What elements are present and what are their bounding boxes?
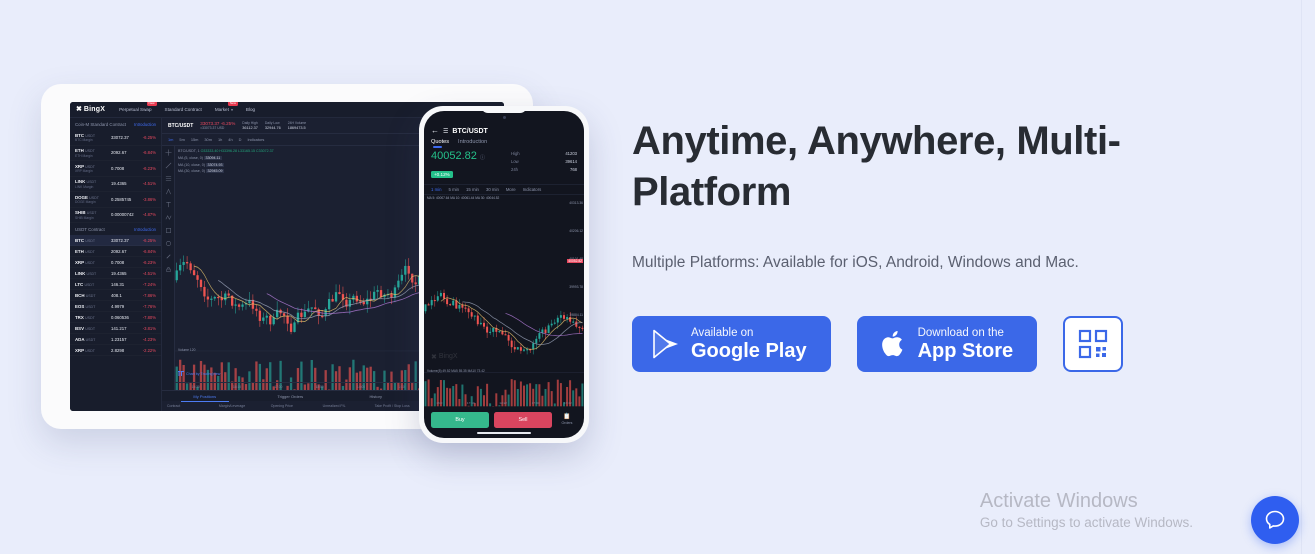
coin-row[interactable]: ETH USDT2092.67-6.84% (70, 246, 161, 257)
phone-stats: High41203Low3961424h768 (511, 150, 577, 181)
google-play-top-label: Available on (691, 326, 807, 340)
sell-button[interactable]: Sell (494, 412, 552, 428)
tab-my-positions[interactable]: My Positions (162, 394, 248, 399)
phone-stat-24h: 24h768 (511, 166, 577, 174)
coin-pair: USDT (85, 165, 95, 169)
ticker-price: 33073.37 -6.25% ≈33073.37 USD (200, 121, 235, 130)
coin-change: -6.84% (136, 249, 156, 254)
page-right-divider (1301, 0, 1302, 554)
magnet-icon[interactable] (165, 227, 172, 234)
coin-section-title: Coin-M Standard Contract (75, 122, 126, 127)
coin-row[interactable]: LTC USDT146.31-7.24% (70, 279, 161, 290)
coin-change: -3.81% (136, 326, 156, 331)
coin-price: 19.4365 (106, 271, 136, 276)
coin-row[interactable]: ETH USDTETH Margin2092.67-6.84% (70, 146, 161, 162)
qr-code-button[interactable] (1063, 316, 1123, 372)
coin-row[interactable]: BSV USDT141.217-3.81% (70, 323, 161, 334)
phone-time-tick: 17:10 (467, 401, 475, 405)
qr-code-icon (1078, 329, 1108, 359)
stat-label: Low (511, 158, 519, 166)
activate-windows-title: Activate Windows (980, 488, 1193, 515)
coin-section-header-2: USDT Contract Introduction (70, 223, 161, 235)
page-subtitle: Multiple Platforms: Available for iOS, A… (632, 254, 1192, 272)
phone-timeframe-1-min[interactable]: 1 min (431, 187, 442, 192)
google-play-icon (652, 329, 680, 359)
coin-price: 408.1 (106, 293, 136, 298)
phone-candle-series (424, 195, 584, 406)
tablet-nav-items: Perpetual Swap New Standard Contract Mar… (119, 107, 255, 112)
coin-price: 0.7008 (106, 260, 136, 265)
coin-change: -3.86% (136, 197, 156, 202)
coin-row[interactable]: ADA USDT1.23157-4.23% (70, 334, 161, 345)
tradingview-credit[interactable]: Chart by TradingView (178, 371, 220, 376)
ohlc-low: 33165.15 (240, 149, 255, 153)
coin-pair: USDT (85, 134, 95, 138)
phone-action-bar: Buy Sell 📋 Orders (424, 407, 584, 432)
nav-item-market[interactable]: Market ▾ New (215, 107, 233, 112)
coin-sub: LINK Margin (75, 185, 106, 189)
coin-change: -6.84% (136, 150, 156, 155)
timeframe-5m[interactable]: 5m (179, 137, 184, 142)
coin-price: 0.00000742 (106, 212, 136, 217)
phone-chart-area[interactable]: MA 5: 40007.64 MA 10: 40061.44 MA 30: 40… (424, 195, 584, 406)
column-header: Margin/Leverage (219, 404, 271, 408)
coin-symbol: XRP USDT (75, 348, 106, 353)
coin-name: LINK USDTLINK Margin (75, 179, 106, 189)
coin-section-header-1: Coin-M Standard Contract Introduction (70, 118, 161, 130)
coin-list-panel: Coin-M Standard Contract Introduction BT… (70, 118, 162, 411)
nav-badge-new: New (228, 102, 238, 106)
timeframe-15m[interactable]: 15m (191, 137, 199, 142)
phone-price-value: 40052.82 (431, 150, 477, 162)
coin-pair: USDT (85, 327, 95, 331)
hero-content: Anytime, Anywhere, Multi-Platform Multip… (632, 0, 1192, 372)
buy-button[interactable]: Buy (431, 412, 489, 428)
coin-name: ETH USDT (75, 249, 106, 254)
volume-indicator-label: Volume 120 (178, 348, 195, 352)
coin-symbol: EOS USDT (75, 304, 106, 309)
phone-quote-block: 40052.82 ⓘ +0.12% High41203Low3961424h76… (424, 148, 584, 184)
coin-pair: USDT (85, 250, 95, 254)
phone-watermark: ✖ BingX (431, 353, 458, 361)
stat-value: 36112.37 (242, 126, 258, 130)
ma-label: MA (10, close, 0) (178, 163, 205, 167)
coin-rows-section-2: BTC USDT33072.37-6.25%ETH USDT2092.67-6.… (70, 235, 161, 356)
coin-change: -7.76% (136, 304, 156, 309)
phone-home-indicator (477, 432, 531, 435)
app-store-top-label: Download on the (918, 326, 1014, 340)
timeframe-30m[interactable]: 30m (204, 137, 212, 142)
phone-camera-dot (503, 116, 506, 119)
coin-change: -2.22% (136, 348, 156, 353)
coin-name: DOGE USDTDOGE Margin (75, 195, 106, 205)
tab-trigger-orders[interactable]: Trigger Orders (248, 394, 334, 399)
phone-header: ← ☰ BTC/USDT (424, 123, 584, 137)
phone-stat-low: Low39614 (511, 158, 577, 166)
phone-tab-introduction[interactable]: Introduction (458, 139, 487, 148)
coin-price: 1.23157 (106, 337, 136, 342)
coin-row[interactable]: XRP USDT2.8298-2.22% (70, 345, 161, 356)
coin-sub: SHIB Margin (75, 216, 106, 220)
coin-row[interactable]: BTC USDTBTC Margin33072.37-6.25% (70, 130, 161, 146)
pattern-icon[interactable] (165, 214, 172, 221)
ma-value: 32945.09 (206, 169, 224, 173)
app-store-bottom-label: App Store (918, 340, 1014, 363)
coin-symbol: TRX USDT (75, 315, 106, 320)
orders-label: Orders (557, 421, 577, 425)
coin-name: SHIB USDTSHIB Margin (75, 210, 106, 220)
google-play-button[interactable]: Available on Google Play (632, 316, 831, 372)
column-header: Contract (167, 404, 219, 408)
coin-price: 19.4365 (106, 181, 136, 186)
stat-label: Daily Low (265, 121, 280, 125)
ohlc-open: 33333.40 (203, 149, 218, 153)
time-tick: 16:10 (233, 385, 241, 389)
coin-pair: USDT (86, 272, 96, 276)
phone-stat-high: High41203 (511, 150, 577, 158)
coin-symbol: LINK USDT (75, 271, 106, 276)
bingx-logo-text: BingX (84, 106, 105, 113)
ohlc-title: BTC/USDT, 1 (178, 149, 200, 153)
coin-price: 2092.67 (106, 150, 136, 155)
time-tick: 1:10 (398, 385, 404, 389)
coin-row[interactable]: LINK USDT19.4365-4.51% (70, 268, 161, 279)
coin-change: -4.23% (136, 337, 156, 342)
coin-symbol: BTC USDT (75, 133, 106, 138)
phone-timeframe-30-min[interactable]: 30 min (486, 187, 499, 192)
orders-icon: 📋 (557, 414, 577, 420)
nav-item-perpetual-swap[interactable]: Perpetual Swap New (119, 107, 151, 112)
coin-pair: USDT (85, 149, 95, 153)
coin-change: -6.25% (136, 135, 156, 140)
coin-name: EOS USDT (75, 304, 106, 309)
coin-row[interactable]: EOS USDT4.9979-7.76% (70, 301, 161, 312)
timeframe-1m[interactable]: 1m (168, 137, 173, 142)
phone-timeframe-bar: 1 min5 min15 min30 minMoreIndicators (424, 184, 584, 195)
coin-change: -6.23% (136, 166, 156, 171)
ma-value: 33094.11 (204, 156, 222, 160)
phone-pair-title: BTC/USDT (452, 128, 487, 135)
bingx-logo[interactable]: ✖ BingX (76, 106, 105, 113)
coin-symbol: ADA USDT (75, 337, 106, 342)
ticker-price-usd: ≈33073.37 USD (200, 126, 235, 130)
trendline-icon[interactable] (165, 162, 172, 169)
phone-tab-quotes[interactable]: Quotes (431, 139, 449, 148)
coin-pair: USDT (87, 211, 97, 215)
coin-symbol: BTC USDT (75, 238, 106, 243)
coin-price: 0.7008 (106, 166, 136, 171)
coin-row[interactable]: XRP USDT0.7008-6.23% (70, 257, 161, 268)
coin-pair: USDT (84, 283, 94, 287)
phone-timeframe-5-min[interactable]: 5 min (449, 187, 460, 192)
coin-pair: USDT (85, 349, 95, 353)
chart-ohlc-legend: BTC/USDT, 1 O33333.40 H33396.28 L33165.1… (178, 148, 274, 175)
ticker-stat-daily-low: Daily Low 32944.76 (265, 121, 281, 130)
coin-section-introduction-link[interactable]: Introduction (134, 227, 156, 232)
phone-tabs: QuotesIntroduction (424, 137, 584, 148)
coin-sub: XRP Margin (75, 169, 106, 173)
coin-price: 0.2585745 (106, 197, 136, 202)
column-header: Opening Price (271, 404, 323, 408)
coin-row[interactable]: BTC USDT33072.37-6.25% (70, 235, 161, 246)
coin-pair: USDT (86, 305, 96, 309)
stat-label: 24h (511, 166, 518, 174)
phone-timeframe-15-min[interactable]: 15 min (466, 187, 479, 192)
list-icon[interactable]: ☰ (443, 128, 448, 135)
phone-axis-tick: 39884.11 (569, 313, 583, 317)
lock-icon[interactable] (165, 266, 172, 273)
activate-windows-subtitle: Go to Settings to activate Windows. (980, 515, 1193, 530)
nav-label: Market (215, 107, 229, 112)
phone-axis-tick: 39993.78 (569, 285, 583, 289)
phone-axis-tick: 40206.12 (569, 229, 583, 233)
nav-label: Perpetual Swap (119, 107, 151, 112)
chart-drawing-toolbar (162, 146, 175, 390)
phone-notch (481, 111, 527, 113)
ohlc-close: 33072.37 (259, 149, 274, 153)
tradingview-credit-text: Chart by TradingView (186, 372, 220, 376)
coin-symbol: BCH USDT (75, 293, 106, 298)
coin-pair: USDT (85, 261, 95, 265)
coin-pair: USDT (86, 180, 96, 184)
chat-widget-button[interactable] (1251, 496, 1299, 544)
coin-rows-section-1: BTC USDTBTC Margin33072.37-6.25%ETH USDT… (70, 130, 161, 223)
coin-name: ETH USDTETH Margin (75, 148, 106, 158)
indicators-button[interactable]: Indicators (247, 137, 264, 142)
tab-history[interactable]: History (333, 394, 419, 399)
coin-change: -4.51% (136, 181, 156, 186)
coin-name: ADA USDT (75, 337, 106, 342)
back-arrow-icon[interactable]: ← (431, 127, 439, 135)
coin-row[interactable]: BCH USDT408.1-7.86% (70, 290, 161, 301)
info-icon[interactable]: ⓘ (480, 155, 485, 161)
phone-screen: ← ☰ BTC/USDT QuotesIntroduction 40052.82… (424, 111, 584, 438)
nav-label: Standard Contract (165, 107, 202, 112)
chevron-down-icon: ▾ (231, 108, 233, 112)
coin-pair: USDT (85, 316, 95, 320)
coin-price: 2092.67 (106, 249, 136, 254)
phone-last-price: 40052.82 ⓘ (431, 150, 511, 163)
ticker-pair: BTC/USDT (168, 123, 193, 129)
stat-value: 32944.76 (265, 126, 281, 130)
coin-name: LTC USDT (75, 282, 106, 287)
nav-item-blog[interactable]: Blog (246, 107, 255, 112)
phone-timeframe-more[interactable]: More (506, 187, 516, 192)
watermark-mark: ✖ (431, 353, 437, 361)
timeframe-4h[interactable]: 4h (228, 137, 232, 142)
page-title: Anytime, Anywhere, Multi-Platform (632, 116, 1177, 218)
coin-row[interactable]: SHIB USDTSHIB Margin0.00000742-4.87% (70, 208, 161, 224)
phone-time-tick: 17:42 (564, 401, 572, 405)
coin-name: XRP USDT (75, 260, 106, 265)
coin-section-title: USDT Contract (75, 227, 105, 232)
coin-name: BTC USDT (75, 238, 106, 243)
coin-sub: DOGE Margin (75, 200, 106, 204)
tradingview-icon (178, 371, 184, 376)
stat-label: High (511, 150, 520, 158)
phone-axis-tick: 40313.36 (569, 201, 583, 205)
stat-label: Daily High (242, 121, 257, 125)
phone-time-tick: 17:30 (532, 401, 540, 405)
fib-retracement-icon[interactable] (165, 175, 172, 182)
coin-row[interactable]: XRP USDTXRP Margin0.7008-6.23% (70, 161, 161, 177)
coin-symbol: ETH USDT (75, 148, 106, 153)
coin-change: -7.80% (136, 315, 156, 320)
timeframe-D[interactable]: D (239, 137, 242, 142)
coin-change: -7.86% (136, 293, 156, 298)
coin-pair: USDT (89, 196, 99, 200)
pitchfork-icon[interactable] (165, 188, 172, 195)
chat-bubble-icon (1263, 508, 1287, 532)
ohlc-line: BTC/USDT, 1 O33333.40 H33396.28 L33165.1… (178, 148, 274, 155)
coin-row[interactable]: LINK USDTLINK Margin19.4365-4.51% (70, 177, 161, 193)
coin-name: BTC USDTBTC Margin (75, 133, 106, 143)
coin-price: 0.060536 (106, 315, 136, 320)
download-buttons-row: Available on Google Play Download on the… (632, 316, 1192, 372)
eraser-icon[interactable] (165, 253, 172, 260)
coin-name: TRX USDT (75, 315, 106, 320)
coin-symbol: DOGE USDT (75, 195, 106, 200)
coin-price: 141.217 (106, 326, 136, 331)
phone-ma-legend: MA 5: 40007.64 MA 10: 40061.44 MA 30: 40… (427, 196, 499, 200)
coin-change: -4.51% (136, 271, 156, 276)
coin-price: 4.9979 (106, 304, 136, 309)
coin-price: 2.8298 (106, 348, 136, 353)
coin-pair: USDT (86, 294, 96, 298)
coin-name: BSV USDT (75, 326, 106, 331)
stat-value: 1869473.5 (288, 126, 306, 130)
orders-button[interactable]: 📋 Orders (557, 414, 577, 425)
phone-price-block: 40052.82 ⓘ +0.12% (431, 150, 511, 181)
coin-pair: USDT (86, 338, 96, 342)
coin-sub: ETH Margin (75, 154, 106, 158)
stat-label: 24H Volume (288, 121, 306, 125)
coin-symbol: ETH USDT (75, 249, 106, 254)
time-tick: 17:30 (274, 385, 282, 389)
coin-change: -7.24% (136, 282, 156, 287)
coin-symbol: LINK USDT (75, 179, 106, 184)
ohlc-high: 33396.28 (222, 149, 237, 153)
page-root: ✖ BingX Perpetual Swap New Standard Cont… (0, 0, 1315, 554)
bingx-logo-mark: ✖ (76, 106, 82, 113)
ma-line-3: MA (30, close, 0) 32945.09 (178, 168, 274, 175)
nav-badge-new: New (147, 102, 157, 106)
coin-symbol: SHIB USDT (75, 210, 106, 215)
measure-icon[interactable] (165, 240, 172, 247)
google-play-bottom-label: Google Play (691, 340, 807, 363)
crosshair-icon[interactable] (165, 149, 172, 156)
time-tick: 14:30 (192, 385, 200, 389)
phone-mockup: ← ☰ BTC/USDT QuotesIntroduction 40052.82… (419, 106, 589, 443)
coin-symbol: XRP USDT (75, 260, 106, 265)
coin-section-introduction-link[interactable]: Introduction (134, 122, 156, 127)
coin-name: BCH USDT (75, 293, 106, 298)
phone-time-axis: 16:017:1012:2217:3017:42 (424, 400, 584, 407)
coin-symbol: XRP USDT (75, 164, 106, 169)
coin-pair: USDT (85, 239, 95, 243)
coin-sub: BTC Margin (75, 138, 106, 142)
app-store-label-group: Download on the App Store (918, 326, 1014, 363)
stat-value: 39614 (565, 158, 577, 166)
ticker-stat-24h-volume: 24H Volume 1869473.5 (288, 121, 306, 130)
windows-activation-watermark: Activate Windows Go to Settings to activ… (980, 488, 1193, 530)
text-icon[interactable] (165, 201, 172, 208)
watermark-text: BingX (439, 353, 458, 360)
phone-volume-label: Volume(5) 49.52 MA5 55.35 MA10 73.42 (427, 369, 485, 373)
ma-label: MA (30, close, 0) (178, 169, 205, 173)
ma-line-2: MA (10, close, 0) 33074.93 (178, 162, 274, 169)
stat-value: 768 (570, 166, 577, 174)
nav-item-standard-contract[interactable]: Standard Contract (165, 107, 202, 112)
ma-line-1: MA (5, close, 0) 33094.11 (178, 155, 274, 162)
timeframe-1h[interactable]: 1h (218, 137, 222, 142)
apple-icon (881, 329, 907, 359)
phone-timeframe-indicators[interactable]: Indicators (523, 187, 542, 192)
phone-time-tick: 12:22 (499, 401, 507, 405)
coin-price: 33072.37 (106, 135, 136, 140)
coin-symbol: BSV USDT (75, 326, 106, 331)
coin-name: LINK USDT (75, 271, 106, 276)
phone-status-bar (424, 111, 584, 123)
ticker-stat-daily-high: Daily High 36112.37 (242, 121, 258, 130)
column-header: Unrealized P/L (323, 404, 375, 408)
stat-value: 41203 (565, 150, 577, 158)
ma-value: 33074.93 (206, 163, 224, 167)
coin-symbol: LTC USDT (75, 282, 106, 287)
coin-price: 33072.37 (106, 238, 136, 243)
coin-name: XRP USDT (75, 348, 106, 353)
app-store-button[interactable]: Download on the App Store (857, 316, 1038, 372)
time-tick: 14:00 (357, 385, 365, 389)
device-mockup-group: ✖ BingX Perpetual Swap New Standard Cont… (0, 0, 620, 554)
coin-change: -4.87% (136, 212, 156, 217)
coin-name: XRP USDTXRP Margin (75, 164, 106, 174)
ma-label: MA (5, close, 0) (178, 156, 203, 160)
google-play-label-group: Available on Google Play (691, 326, 807, 363)
coin-row[interactable]: DOGE USDTDOGE Margin0.2585745-3.86% (70, 192, 161, 208)
time-tick: 18:50 (316, 385, 324, 389)
coin-change: -6.23% (136, 260, 156, 265)
nav-label: Blog (246, 107, 255, 112)
phone-time-tick: 16:0 (436, 401, 442, 405)
coin-price: 146.31 (106, 282, 136, 287)
phone-last-price-tag: 40052.82 (567, 259, 583, 263)
coin-change: -6.25% (136, 238, 156, 243)
phone-change-badge: +0.12% (431, 171, 453, 178)
coin-row[interactable]: TRX USDT0.060536-7.80% (70, 312, 161, 323)
